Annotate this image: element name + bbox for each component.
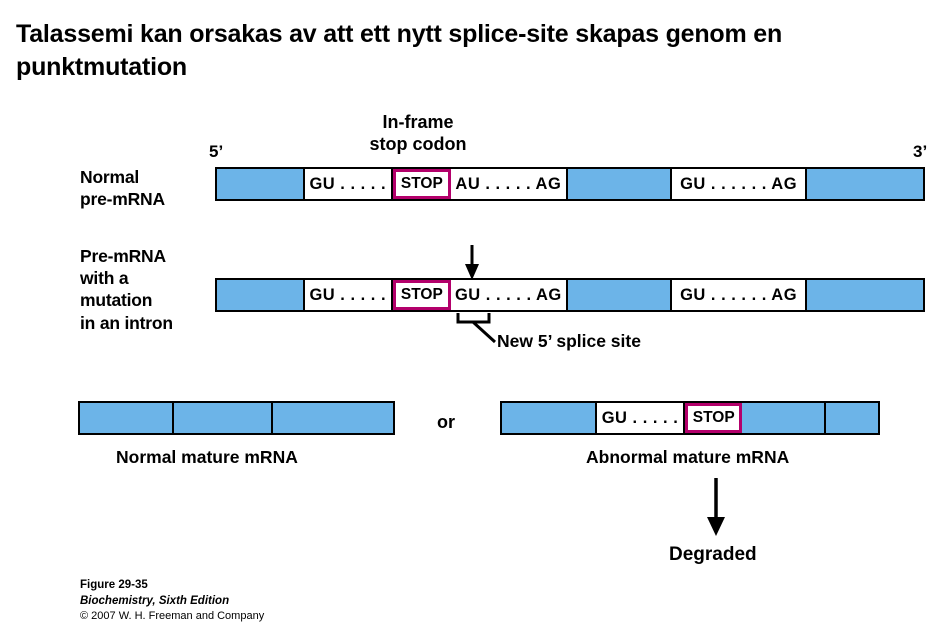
normal-pre-mrna-intron-2: AU . . . . . AG xyxy=(451,169,568,199)
mutation-point-arrow-icon xyxy=(465,245,479,280)
new-splice-site-bracket-icon xyxy=(458,313,495,342)
abnormal-mature-mrna-exon-1 xyxy=(502,403,597,433)
in-frame-stop-codon-line1: In-frame xyxy=(318,112,518,134)
normal-pre-mrna-stop-codon: STOP xyxy=(393,169,451,199)
abnormal-mature-mrna-exon-3 xyxy=(826,403,878,433)
figure-book-title: Biochemistry, Sixth Edition xyxy=(80,594,264,610)
abnormal-mature-mrna-exon-2 xyxy=(742,403,825,433)
mutant-pre-mrna-label: Pre-mRNA with a mutation in an intron xyxy=(80,245,173,334)
mutant-pre-mrna-bar: GU . . . . . STOP GU . . . . . AG GU . .… xyxy=(215,278,925,312)
mutant-pre-mrna-exon-1 xyxy=(217,280,305,310)
degradation-arrow-icon xyxy=(707,478,725,536)
mutant-pre-mrna-intron-3: GU . . . . . . AG xyxy=(672,280,806,310)
in-frame-stop-codon-line2: stop codon xyxy=(318,134,518,156)
stop-codon-text: STOP xyxy=(400,286,444,304)
mutant-pre-mrna-exon-3 xyxy=(807,280,923,310)
abnormal-mature-mrna-caption: Abnormal mature mRNA xyxy=(586,447,789,468)
stop-codon-text: STOP xyxy=(692,409,736,427)
normal-mature-mrna-exon-2 xyxy=(174,403,273,433)
abnormal-mature-mrna-bar: GU . . . . . STOP xyxy=(500,401,880,435)
mutant-pre-mrna-label-line2: with a xyxy=(80,267,173,289)
normal-pre-mrna-exon-3 xyxy=(807,169,923,199)
mutant-pre-mrna-intron-2: GU . . . . . AG xyxy=(451,280,568,310)
normal-pre-mrna-exon-1 xyxy=(217,169,305,199)
mutant-pre-mrna-label-line4: in an intron xyxy=(80,312,173,334)
figure-credit: Figure 29-35 Biochemistry, Sixth Edition… xyxy=(80,578,264,624)
normal-pre-mrna-label: Normal pre-mRNA xyxy=(80,166,165,210)
new-splice-site-label: New 5’ splice site xyxy=(497,331,641,352)
mutant-pre-mrna-intron-1: GU . . . . . xyxy=(305,280,394,310)
normal-pre-mrna-intron-1: GU . . . . . xyxy=(305,169,394,199)
figure-copyright: © 2007 W. H. Freeman and Company xyxy=(80,609,264,624)
mutant-pre-mrna-label-line3: mutation xyxy=(80,289,173,311)
normal-pre-mrna-bar: GU . . . . . STOP AU . . . . . AG GU . .… xyxy=(215,167,925,201)
abnormal-mature-mrna-intron-1: GU . . . . . xyxy=(597,403,685,433)
mutant-pre-mrna-label-line1: Pre-mRNA xyxy=(80,245,173,267)
normal-pre-mrna-exon-2 xyxy=(568,169,672,199)
page-title: Talassemi kan orsakas av att ett nytt sp… xyxy=(16,18,916,83)
stop-codon-text: STOP xyxy=(400,175,444,193)
normal-pre-mrna-label-line2: pre-mRNA xyxy=(80,188,165,210)
three-prime-label: 3’ xyxy=(913,142,927,162)
normal-pre-mrna-intron-3: GU . . . . . . AG xyxy=(672,169,806,199)
figure-number: Figure 29-35 xyxy=(80,578,264,594)
or-label: or xyxy=(437,412,455,433)
normal-mature-mrna-exon-1 xyxy=(80,403,174,433)
normal-mature-mrna-bar xyxy=(78,401,395,435)
five-prime-label: 5’ xyxy=(209,142,223,162)
normal-pre-mrna-label-line1: Normal xyxy=(80,166,165,188)
abnormal-mature-mrna-stop-codon: STOP xyxy=(685,403,742,433)
mutant-pre-mrna-stop-codon: STOP xyxy=(393,280,451,310)
in-frame-stop-codon-note: In-frame stop codon xyxy=(318,112,518,155)
normal-mature-mrna-caption: Normal mature mRNA xyxy=(116,447,298,468)
mutant-pre-mrna-exon-2 xyxy=(568,280,672,310)
normal-mature-mrna-exon-3 xyxy=(273,403,393,433)
degraded-label: Degraded xyxy=(669,544,757,566)
